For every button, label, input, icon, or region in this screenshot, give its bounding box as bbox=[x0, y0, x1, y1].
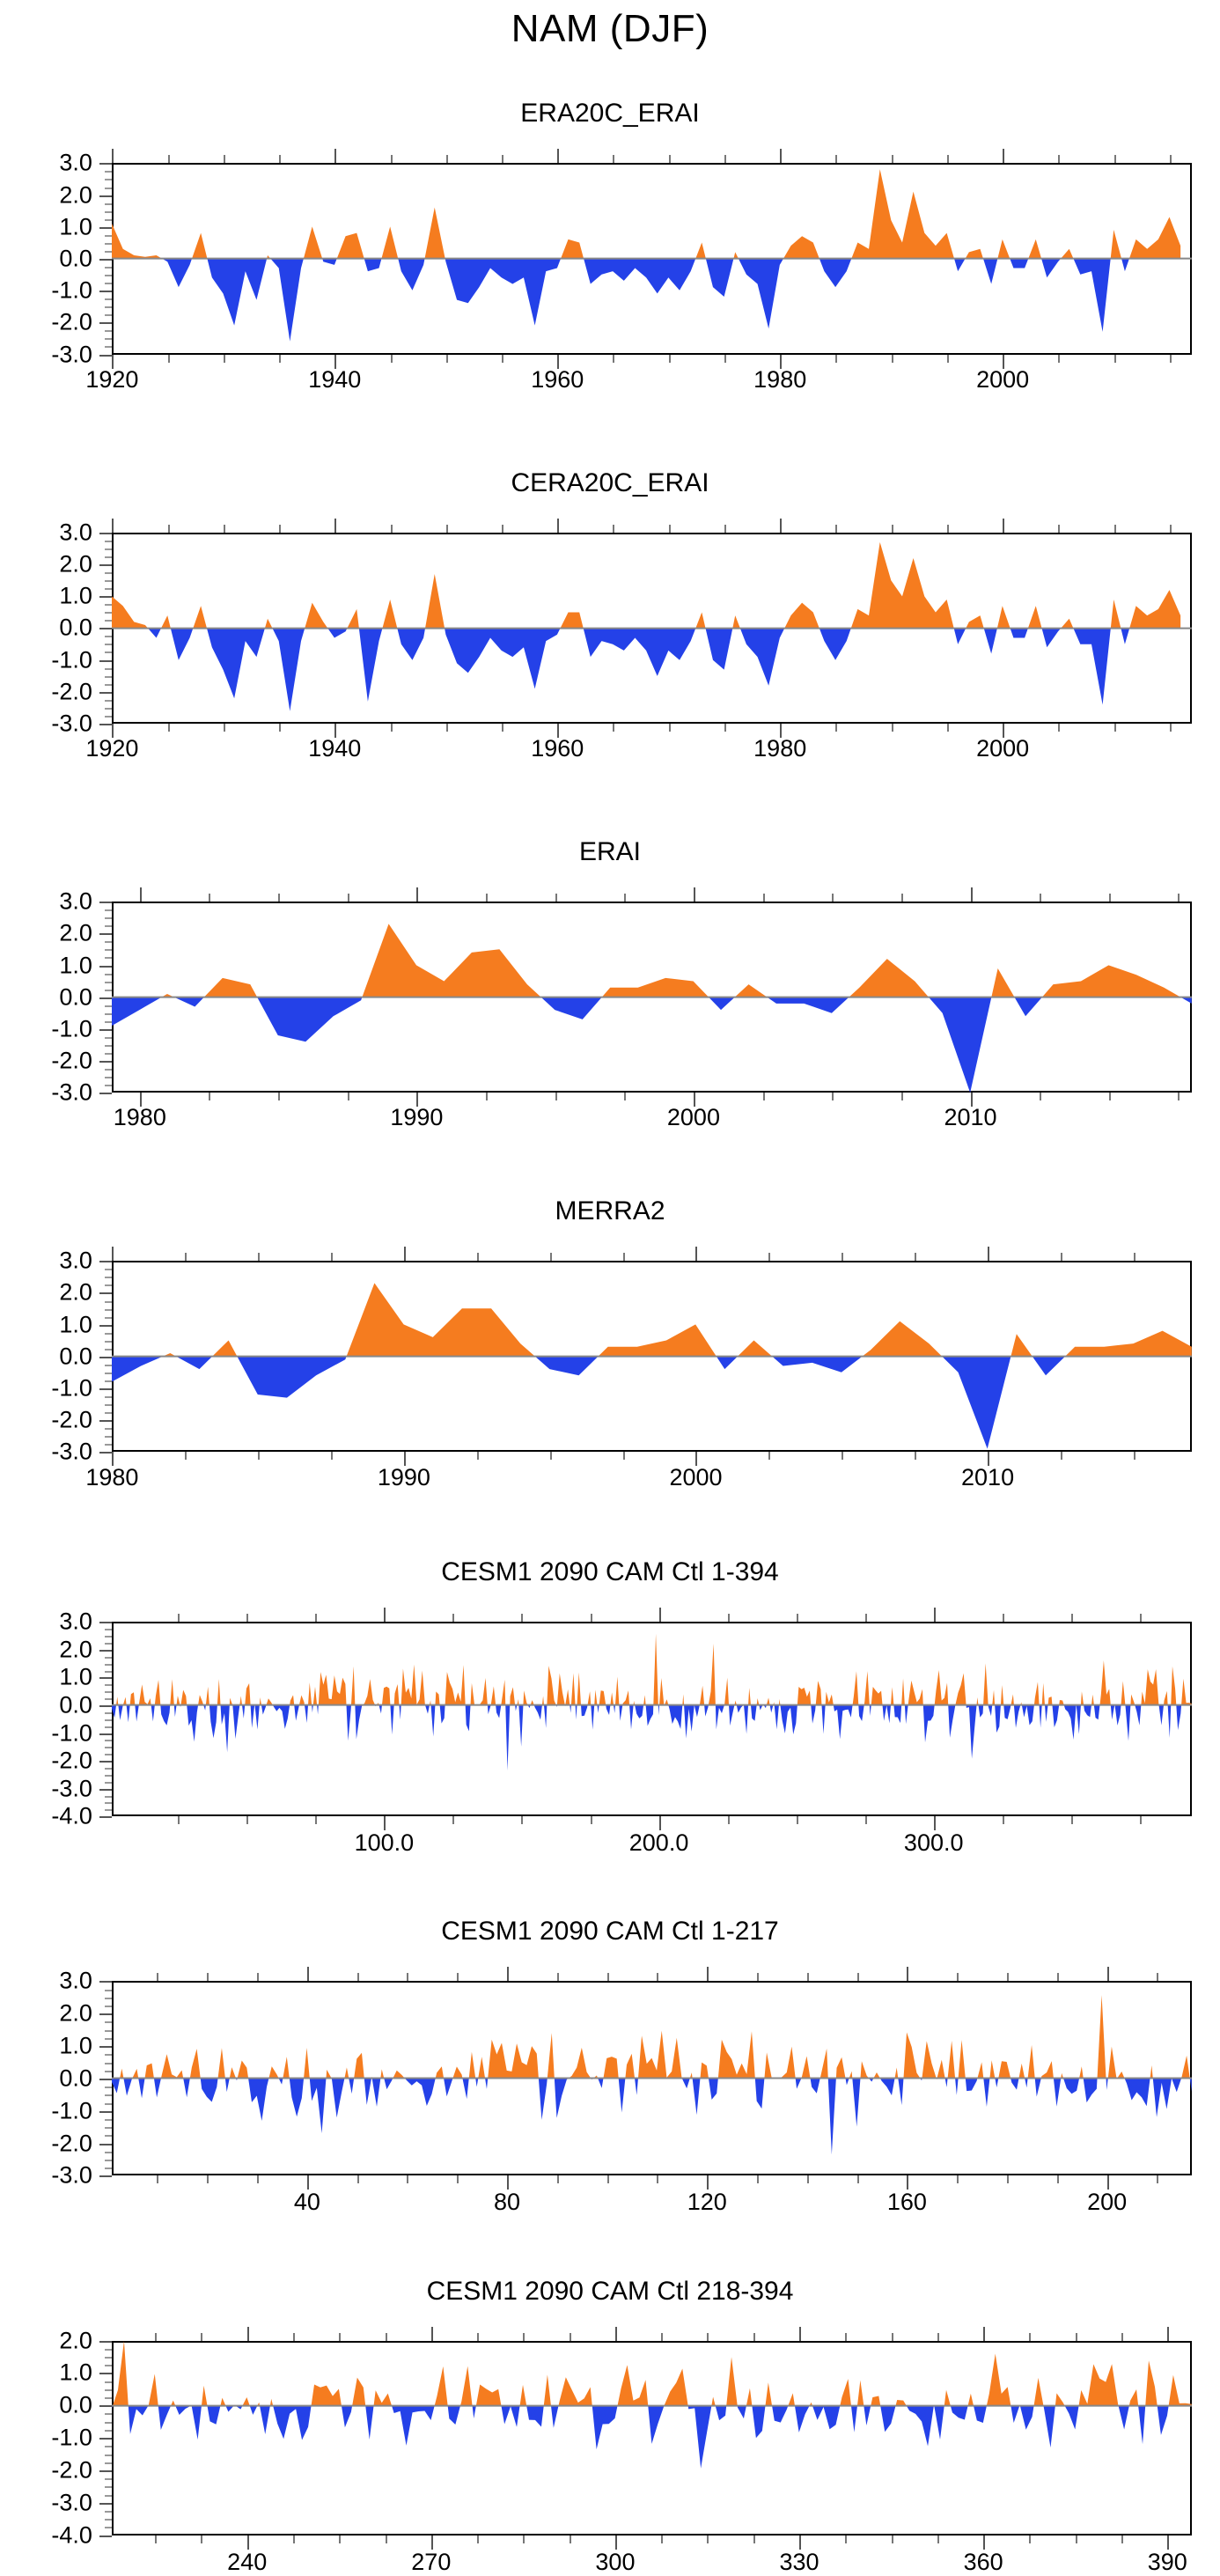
y-tick-minor bbox=[105, 1069, 112, 1071]
x-tick-minor-top bbox=[201, 2333, 202, 2341]
positive-area bbox=[162, 924, 1181, 997]
x-tick-label: 200.0 bbox=[629, 1829, 689, 1857]
negative-area bbox=[112, 2405, 1169, 2468]
x-tick-minor-top bbox=[724, 155, 726, 163]
y-tick-major bbox=[99, 997, 112, 999]
y-tick-minor bbox=[105, 1053, 112, 1055]
x-tick-minor-top bbox=[521, 1614, 523, 1622]
x-tick-minor-top bbox=[357, 1973, 359, 1981]
x-tick-minor bbox=[209, 1093, 210, 1100]
y-tick-label: 2.0 bbox=[0, 922, 92, 946]
x-tick-major-top bbox=[557, 519, 559, 533]
series-area bbox=[112, 1622, 1192, 1816]
y-tick-minor bbox=[105, 1657, 112, 1659]
panel-title: MERRA2 bbox=[0, 1196, 1220, 1226]
y-tick-minor bbox=[105, 2168, 112, 2169]
x-tick-minor-top bbox=[947, 155, 949, 163]
x-tick-major bbox=[934, 1816, 936, 1830]
y-tick-major bbox=[99, 2079, 112, 2080]
x-tick-major bbox=[557, 724, 559, 738]
y-tick-label: -3.0 bbox=[0, 2164, 92, 2188]
x-tick-minor bbox=[168, 724, 170, 732]
y-tick-major bbox=[99, 1292, 112, 1294]
y-tick-label: -1.0 bbox=[0, 2099, 92, 2123]
x-tick-minor-top bbox=[502, 525, 503, 533]
y-tick-major bbox=[99, 628, 112, 629]
x-tick-minor-top bbox=[339, 2333, 341, 2341]
x-tick-label: 40 bbox=[294, 2189, 320, 2216]
x-tick-major-top bbox=[307, 1967, 309, 1981]
x-tick-major-top bbox=[1003, 149, 1004, 163]
x-tick-minor bbox=[279, 355, 281, 363]
x-tick-label: 270 bbox=[411, 2549, 451, 2576]
x-tick-label: 360 bbox=[964, 2549, 1003, 2576]
y-tick-minor bbox=[105, 2127, 112, 2129]
x-tick-label: 300.0 bbox=[904, 1829, 964, 1857]
y-tick-minor bbox=[105, 2152, 112, 2153]
y-tick-label: 1.0 bbox=[0, 585, 92, 608]
x-tick-minor bbox=[1007, 2175, 1009, 2183]
x-tick-minor bbox=[591, 1816, 592, 1824]
x-tick-major-top bbox=[431, 2327, 433, 2341]
y-tick-label: 2.0 bbox=[0, 1281, 92, 1305]
x-tick-minor bbox=[557, 2175, 559, 2183]
y-tick-minor bbox=[105, 306, 112, 308]
x-tick-minor-top bbox=[207, 1973, 209, 1981]
x-tick-minor-top bbox=[331, 1253, 333, 1261]
x-tick-minor bbox=[865, 1816, 867, 1824]
y-tick-minor bbox=[105, 2054, 112, 2056]
y-tick-major bbox=[99, 1388, 112, 1390]
y-tick-label: -1.0 bbox=[0, 2426, 92, 2450]
x-tick-minor bbox=[1029, 2536, 1031, 2543]
x-tick-minor bbox=[155, 2536, 157, 2543]
x-tick-minor-top bbox=[1109, 894, 1111, 902]
x-tick-minor bbox=[661, 2536, 663, 2543]
x-tick-major-top bbox=[615, 2327, 617, 2341]
plot-area bbox=[112, 902, 1192, 1093]
y-tick-minor bbox=[105, 2511, 112, 2513]
x-tick-minor-top bbox=[623, 1253, 625, 1261]
y-tick-label: 2.0 bbox=[0, 2002, 92, 2026]
y-tick-minor bbox=[105, 2160, 112, 2161]
x-tick-minor bbox=[1157, 2175, 1158, 2183]
x-tick-minor-top bbox=[607, 1973, 609, 1981]
y-tick-minor bbox=[105, 1747, 112, 1748]
x-tick-major-top bbox=[384, 1608, 386, 1622]
y-tick-minor bbox=[105, 1712, 112, 1714]
y-tick-label: -3.0 bbox=[0, 711, 92, 735]
y-tick-minor bbox=[105, 1396, 112, 1398]
x-tick-label: 1920 bbox=[85, 366, 138, 394]
negative-area bbox=[112, 1357, 1065, 1449]
y-tick-minor bbox=[105, 2478, 112, 2480]
panel-7: CESM1 2090 CAM Ctl 218-3942.01.00.0-1.0-… bbox=[0, 0, 1220, 2568]
x-tick-major bbox=[112, 355, 114, 369]
x-tick-minor-top bbox=[1170, 155, 1172, 163]
x-tick-minor-top bbox=[724, 525, 726, 533]
x-tick-major-top bbox=[334, 519, 336, 533]
y-tick-label: -2.0 bbox=[0, 1409, 92, 1432]
x-tick-major-top bbox=[334, 149, 336, 163]
negative-area bbox=[112, 1705, 1181, 1770]
y-tick-label: -3.0 bbox=[0, 1081, 92, 1105]
y-tick-minor bbox=[105, 604, 112, 606]
y-tick-major bbox=[99, 596, 112, 598]
x-tick-major-top bbox=[507, 1967, 509, 1981]
x-tick-major-top bbox=[659, 1608, 661, 1622]
y-tick-minor bbox=[105, 668, 112, 670]
x-tick-minor-top bbox=[1076, 2333, 1077, 2341]
x-tick-label: 1990 bbox=[378, 1464, 430, 1491]
y-tick-minor bbox=[105, 2495, 112, 2497]
x-tick-major bbox=[971, 1093, 973, 1107]
y-tick-minor bbox=[105, 1077, 112, 1078]
x-tick-minor-top bbox=[446, 525, 448, 533]
x-tick-minor bbox=[446, 355, 448, 363]
panel-title: ERA20C_ERAI bbox=[0, 99, 1220, 129]
x-tick-minor bbox=[452, 1816, 454, 1824]
x-tick-minor-top bbox=[570, 2333, 571, 2341]
figure-root: NAM (DJF) ERA20C_ERAI3.02.01.00.0-1.0-2.… bbox=[0, 0, 1220, 2568]
x-tick-minor bbox=[807, 2175, 809, 2183]
y-tick-minor bbox=[105, 644, 112, 645]
y-tick-label: -2.0 bbox=[0, 1049, 92, 1073]
y-tick-minor bbox=[105, 2527, 112, 2528]
x-tick-minor-top bbox=[892, 2333, 893, 2341]
y-tick-minor bbox=[105, 219, 112, 221]
x-tick-minor bbox=[835, 355, 837, 363]
y-tick-label: 0.0 bbox=[0, 2394, 92, 2418]
panel-5: CESM1 2090 CAM Ctl 1-3943.02.01.00.0-1.0… bbox=[0, 0, 1220, 2568]
x-tick-major bbox=[983, 2536, 985, 2550]
x-tick-minor-top bbox=[845, 2333, 847, 2341]
y-tick-minor bbox=[105, 941, 112, 943]
x-tick-minor bbox=[391, 355, 393, 363]
x-tick-major bbox=[1167, 2536, 1169, 2550]
y-tick-major bbox=[99, 1789, 112, 1791]
x-tick-label: 200 bbox=[1087, 2189, 1127, 2216]
y-tick-label: -2.0 bbox=[0, 1749, 92, 1773]
x-tick-minor bbox=[763, 1093, 765, 1100]
y-tick-minor bbox=[105, 1037, 112, 1039]
y-tick-minor bbox=[105, 1380, 112, 1382]
y-tick-minor bbox=[105, 2357, 112, 2359]
x-tick-major bbox=[988, 1452, 989, 1466]
panel-2: CERA20C_ERAI3.02.01.00.0-1.0-2.0-3.01920… bbox=[0, 0, 1220, 2568]
x-tick-major bbox=[404, 1452, 406, 1466]
y-tick-minor bbox=[105, 243, 112, 245]
x-tick-major bbox=[694, 1093, 695, 1107]
x-tick-minor-top bbox=[246, 1614, 248, 1622]
y-tick-minor bbox=[105, 330, 112, 332]
y-tick-minor bbox=[105, 2413, 112, 2415]
y-tick-major bbox=[99, 692, 112, 694]
x-tick-minor-top bbox=[835, 155, 837, 163]
x-tick-minor bbox=[1058, 724, 1060, 732]
y-tick-label: 1.0 bbox=[0, 1666, 92, 1689]
y-tick-minor bbox=[105, 1809, 112, 1811]
x-tick-minor bbox=[386, 2536, 387, 2543]
y-tick-label: -2.0 bbox=[0, 680, 92, 703]
y-tick-label: 0.0 bbox=[0, 1693, 92, 1717]
y-tick-label: 2.0 bbox=[0, 2329, 92, 2352]
x-tick-minor bbox=[1170, 724, 1172, 732]
y-tick-minor bbox=[105, 974, 112, 975]
x-tick-minor bbox=[555, 1093, 557, 1100]
y-tick-minor bbox=[105, 2103, 112, 2105]
x-tick-minor-top bbox=[1061, 1253, 1062, 1261]
x-tick-minor-top bbox=[1121, 2333, 1123, 2341]
y-tick-major bbox=[99, 2373, 112, 2374]
series-area bbox=[112, 1261, 1192, 1452]
x-tick-minor bbox=[1040, 1093, 1041, 1100]
y-tick-minor bbox=[105, 1269, 112, 1270]
y-tick-minor bbox=[105, 2397, 112, 2399]
y-tick-major bbox=[99, 1816, 112, 1818]
x-tick-minor bbox=[835, 724, 837, 732]
y-tick-minor bbox=[105, 1309, 112, 1311]
x-tick-major-top bbox=[983, 2327, 985, 2341]
x-tick-minor bbox=[613, 724, 614, 732]
x-tick-label: 100.0 bbox=[355, 1829, 415, 1857]
y-tick-minor bbox=[105, 1782, 112, 1784]
x-tick-label: 120 bbox=[687, 2189, 727, 2216]
x-tick-minor bbox=[607, 2175, 609, 2183]
y-tick-minor bbox=[105, 2349, 112, 2351]
x-tick-major-top bbox=[694, 887, 695, 902]
y-tick-minor bbox=[105, 917, 112, 919]
y-tick-major bbox=[99, 259, 112, 261]
y-tick-minor bbox=[105, 1740, 112, 1741]
x-tick-minor bbox=[707, 2536, 709, 2543]
y-tick-minor bbox=[105, 651, 112, 653]
y-tick-label: 0.0 bbox=[0, 616, 92, 640]
x-tick-minor bbox=[348, 1093, 349, 1100]
x-tick-minor bbox=[669, 355, 671, 363]
positive-area bbox=[163, 1284, 1192, 1357]
x-tick-minor bbox=[845, 2536, 847, 2543]
x-tick-minor-top bbox=[892, 525, 893, 533]
x-tick-minor bbox=[1071, 1816, 1073, 1824]
y-tick-minor bbox=[105, 2381, 112, 2383]
y-tick-minor bbox=[105, 2486, 112, 2488]
x-tick-major bbox=[780, 355, 782, 369]
plot-area bbox=[112, 2341, 1192, 2536]
y-tick-label: 3.0 bbox=[0, 151, 92, 175]
x-tick-minor bbox=[957, 2175, 959, 2183]
y-tick-major bbox=[99, 1622, 112, 1623]
y-tick-minor bbox=[105, 620, 112, 622]
y-tick-major bbox=[99, 2405, 112, 2407]
x-tick-minor bbox=[892, 724, 893, 732]
x-tick-label: 1980 bbox=[753, 735, 806, 762]
y-tick-minor bbox=[105, 2063, 112, 2064]
y-tick-minor bbox=[105, 2071, 112, 2072]
x-tick-minor bbox=[613, 355, 614, 363]
x-tick-minor bbox=[278, 1093, 280, 1100]
y-tick-label: 3.0 bbox=[0, 1610, 92, 1634]
x-tick-minor bbox=[207, 2175, 209, 2183]
x-tick-minor bbox=[1003, 1816, 1004, 1824]
y-tick-minor bbox=[105, 1998, 112, 1999]
y-tick-minor bbox=[105, 2038, 112, 2040]
y-tick-major bbox=[99, 1357, 112, 1358]
x-tick-major bbox=[707, 2175, 709, 2190]
x-tick-major-top bbox=[140, 887, 142, 902]
y-tick-label: -2.0 bbox=[0, 2131, 92, 2155]
x-tick-label: 80 bbox=[494, 2189, 520, 2216]
x-tick-major-top bbox=[988, 1247, 989, 1261]
y-tick-label: 1.0 bbox=[0, 1313, 92, 1336]
x-tick-minor bbox=[947, 355, 949, 363]
y-tick-minor bbox=[105, 636, 112, 637]
x-tick-minor bbox=[832, 1093, 834, 1100]
y-tick-minor bbox=[105, 211, 112, 213]
x-tick-minor bbox=[768, 1452, 770, 1460]
y-tick-minor bbox=[105, 203, 112, 205]
y-tick-label: -3.0 bbox=[0, 342, 92, 366]
y-tick-minor bbox=[105, 1341, 112, 1343]
x-tick-minor-top bbox=[937, 2333, 939, 2341]
y-tick-label: 3.0 bbox=[0, 890, 92, 914]
negative-area bbox=[112, 2079, 1192, 2155]
x-tick-minor bbox=[724, 355, 726, 363]
x-tick-minor-top bbox=[258, 1253, 260, 1261]
y-tick-minor bbox=[105, 1317, 112, 1319]
x-tick-minor bbox=[842, 1452, 843, 1460]
x-tick-minor-top bbox=[391, 525, 393, 533]
x-tick-major bbox=[334, 355, 336, 369]
x-tick-minor-top bbox=[1170, 525, 1172, 533]
x-tick-minor-top bbox=[279, 155, 281, 163]
x-tick-minor bbox=[486, 1093, 488, 1100]
y-tick-major bbox=[99, 322, 112, 324]
x-tick-minor-top bbox=[1058, 525, 1060, 533]
y-tick-minor bbox=[105, 275, 112, 276]
y-tick-minor bbox=[105, 267, 112, 269]
y-tick-minor bbox=[105, 1284, 112, 1286]
y-tick-major bbox=[99, 1420, 112, 1422]
x-tick-minor bbox=[331, 1452, 333, 1460]
y-tick-label: 0.0 bbox=[0, 985, 92, 1009]
positive-area bbox=[116, 1634, 1192, 1705]
y-tick-minor bbox=[105, 1412, 112, 1414]
x-tick-minor-top bbox=[865, 1614, 867, 1622]
x-tick-minor-top bbox=[477, 1253, 479, 1261]
x-tick-minor bbox=[1076, 2536, 1077, 2543]
x-tick-minor bbox=[901, 1093, 903, 1100]
y-tick-minor bbox=[105, 1796, 112, 1798]
negative-area bbox=[148, 628, 1129, 710]
x-tick-major bbox=[615, 2536, 617, 2550]
x-tick-minor-top bbox=[901, 894, 903, 902]
x-tick-minor-top bbox=[613, 525, 614, 533]
plot-area bbox=[112, 163, 1192, 354]
x-tick-major-top bbox=[1107, 1967, 1109, 1981]
panel-6: CESM1 2090 CAM Ctl 1-2173.02.01.00.0-1.0… bbox=[0, 0, 1220, 2568]
y-tick-major bbox=[99, 291, 112, 292]
x-tick-major-top bbox=[112, 1247, 114, 1261]
y-tick-minor bbox=[105, 2365, 112, 2366]
x-tick-minor bbox=[892, 2536, 893, 2543]
y-tick-label: -3.0 bbox=[0, 1440, 92, 1464]
x-tick-minor-top bbox=[1157, 1973, 1158, 1981]
x-tick-minor-top bbox=[1114, 525, 1116, 533]
x-tick-major-top bbox=[112, 519, 114, 533]
x-tick-minor-top bbox=[1071, 1614, 1073, 1622]
x-tick-minor-top bbox=[857, 1973, 859, 1981]
y-tick-label: 1.0 bbox=[0, 215, 92, 239]
x-tick-major-top bbox=[1167, 2327, 1169, 2341]
x-tick-major-top bbox=[907, 1967, 908, 1981]
x-tick-minor bbox=[947, 724, 949, 732]
series-area bbox=[112, 163, 1192, 354]
y-tick-minor bbox=[105, 556, 112, 558]
x-tick-minor bbox=[339, 2536, 341, 2543]
x-tick-major-top bbox=[557, 149, 559, 163]
x-tick-minor-top bbox=[753, 2333, 755, 2341]
y-tick-minor bbox=[105, 1021, 112, 1023]
y-tick-minor bbox=[105, 1013, 112, 1015]
x-tick-minor-top bbox=[157, 1973, 158, 1981]
x-tick-minor bbox=[1057, 2175, 1059, 2183]
x-tick-major bbox=[507, 2175, 509, 2190]
x-tick-minor-top bbox=[835, 525, 837, 533]
x-tick-minor bbox=[1058, 355, 1060, 363]
y-tick-minor bbox=[105, 1365, 112, 1366]
x-tick-minor bbox=[157, 2175, 158, 2183]
x-tick-major bbox=[1003, 724, 1004, 738]
x-tick-minor-top bbox=[957, 1973, 959, 1981]
y-tick-label: 3.0 bbox=[0, 520, 92, 544]
x-tick-label: 330 bbox=[780, 2549, 819, 2576]
x-tick-minor-top bbox=[209, 894, 210, 902]
x-tick-minor-top bbox=[613, 155, 614, 163]
x-tick-minor-top bbox=[224, 155, 225, 163]
y-tick-minor bbox=[105, 2455, 112, 2456]
x-tick-label: 1940 bbox=[308, 735, 361, 762]
x-tick-major bbox=[907, 2175, 908, 2190]
x-tick-minor-top bbox=[457, 1973, 459, 1981]
y-tick-minor bbox=[105, 700, 112, 702]
x-tick-major-top bbox=[799, 2327, 801, 2341]
y-tick-minor bbox=[105, 1671, 112, 1673]
y-tick-major bbox=[99, 2046, 112, 2048]
y-tick-label: 1.0 bbox=[0, 2361, 92, 2385]
x-tick-minor-top bbox=[892, 155, 893, 163]
x-tick-minor-top bbox=[550, 1253, 552, 1261]
x-tick-major-top bbox=[707, 1967, 709, 1981]
x-tick-minor-top bbox=[386, 2333, 387, 2341]
y-tick-minor bbox=[105, 1444, 112, 1446]
x-tick-minor bbox=[521, 1816, 523, 1824]
y-tick-label: 2.0 bbox=[0, 552, 92, 576]
x-tick-minor-top bbox=[168, 525, 170, 533]
positive-area bbox=[112, 542, 1180, 629]
x-tick-minor bbox=[168, 355, 170, 363]
x-tick-label: 2000 bbox=[976, 366, 1029, 394]
y-tick-minor bbox=[105, 251, 112, 253]
x-tick-label: 1940 bbox=[308, 366, 361, 394]
x-tick-minor-top bbox=[842, 1253, 843, 1261]
y-tick-label: -3.0 bbox=[0, 2491, 92, 2514]
series-area bbox=[112, 2341, 1192, 2536]
x-tick-minor-top bbox=[257, 1973, 259, 1981]
x-tick-label: 1980 bbox=[753, 366, 806, 394]
x-tick-major bbox=[1003, 355, 1004, 369]
y-tick-major bbox=[99, 660, 112, 662]
